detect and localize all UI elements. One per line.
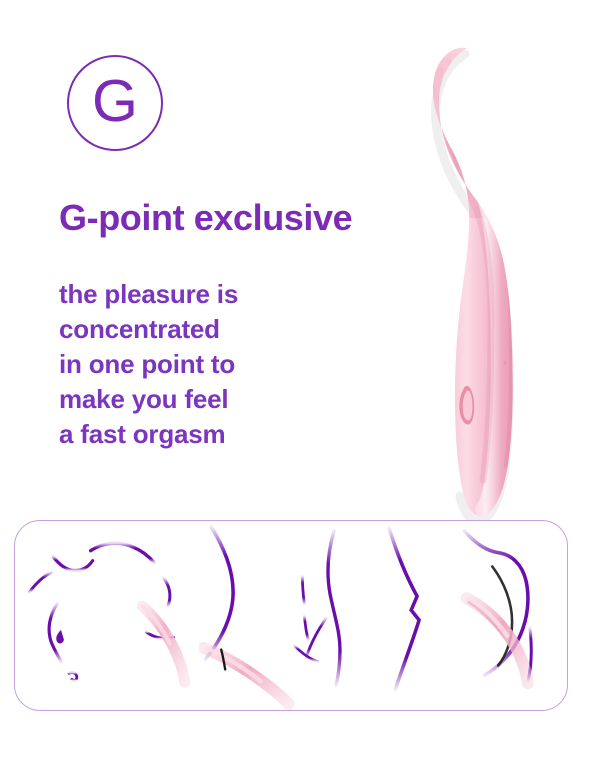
feature-description: the pleasure is concentrated in one poin… <box>59 277 339 452</box>
product-control-button <box>459 386 474 425</box>
feature-description-line: in one point to <box>59 347 339 382</box>
usage-illustration-torso-angled <box>199 521 383 710</box>
usage-illustration-torso-front <box>15 521 199 710</box>
page-root: G G-point exclusive the pleasure is conc… <box>0 0 600 763</box>
usage-illustration-panel <box>14 520 568 711</box>
feature-description-line: the pleasure is <box>59 277 339 312</box>
feature-description-line: make you feel <box>59 382 339 417</box>
g-point-badge-icon: G <box>67 55 163 151</box>
usage-illustration-side-profile <box>383 521 567 710</box>
g-point-badge-letter: G <box>92 72 138 131</box>
feature-description-line: a fast orgasm <box>59 417 339 452</box>
page-title: G-point exclusive <box>59 196 352 240</box>
feature-description-line: concentrated <box>59 312 339 347</box>
g-spot-wand-product <box>385 18 600 528</box>
